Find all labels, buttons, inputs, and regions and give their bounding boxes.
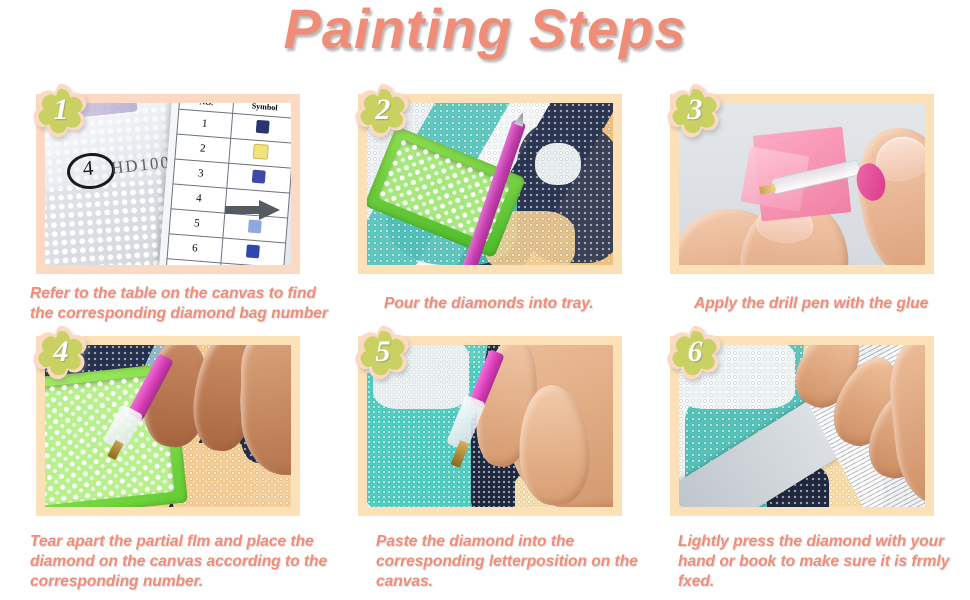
stamp-frame-1: 4 HD1001 NO. Symbol 1 2 [36,94,300,274]
stamp-frame-4 [36,336,300,516]
step-card-6: 6 Lightly press the diamond with your ha… [652,324,952,600]
symbol-swatch [246,244,260,258]
symbol-table: NO. Symbol 1 2 3 [165,103,291,265]
stamp-frame-3 [670,94,934,274]
stamp-frame-2 [358,94,622,274]
step-card-2: 2 Pour the diamonds into tray. [340,82,640,352]
step-photo-2 [367,103,613,265]
pointer-arrow-icon [225,199,281,221]
step-card-5: 5 Paste the diamond into the correspondi… [340,324,640,600]
symbol-swatch [248,220,262,234]
step-photo-1: 4 HD1001 NO. Symbol 1 2 [45,103,291,265]
step-photo-4 [45,345,291,507]
step-caption-6: Lightly press the diamond with your hand… [678,532,968,592]
step-photo-5 [367,345,613,507]
stamp-frame-6 [670,336,934,516]
step-caption-2: Pour the diamonds into tray. [384,294,664,314]
symbol-swatch [256,120,270,134]
step-card-1: 4 HD1001 NO. Symbol 1 2 [18,82,318,352]
step-caption-1: Refer to the table on the canvas to find… [30,284,330,324]
row-symbol [221,238,286,265]
symbol-swatch [252,170,266,184]
symbol-swatch [253,144,269,160]
step-caption-4: Tear apart the partial flm and place the… [30,532,335,592]
step-caption-5: Paste the diamond into the corresponding… [376,532,644,592]
page-title: Painting Steps [0,0,970,62]
arrow-right-icon [225,199,281,221]
bag-number-value: 4 [66,151,110,185]
step-photo-3 [679,103,925,265]
step-photo-6 [679,345,925,507]
step-caption-3: Apply the drill pen with the glue [694,294,970,314]
step-card-3: 3 Apply the drill pen with the glue [652,82,952,352]
step-card-4: 4 Tear apart the partial flm and place t… [18,324,318,600]
steps-grid: 4 HD1001 NO. Symbol 1 2 [0,62,970,600]
stamp-frame-5 [358,336,622,516]
